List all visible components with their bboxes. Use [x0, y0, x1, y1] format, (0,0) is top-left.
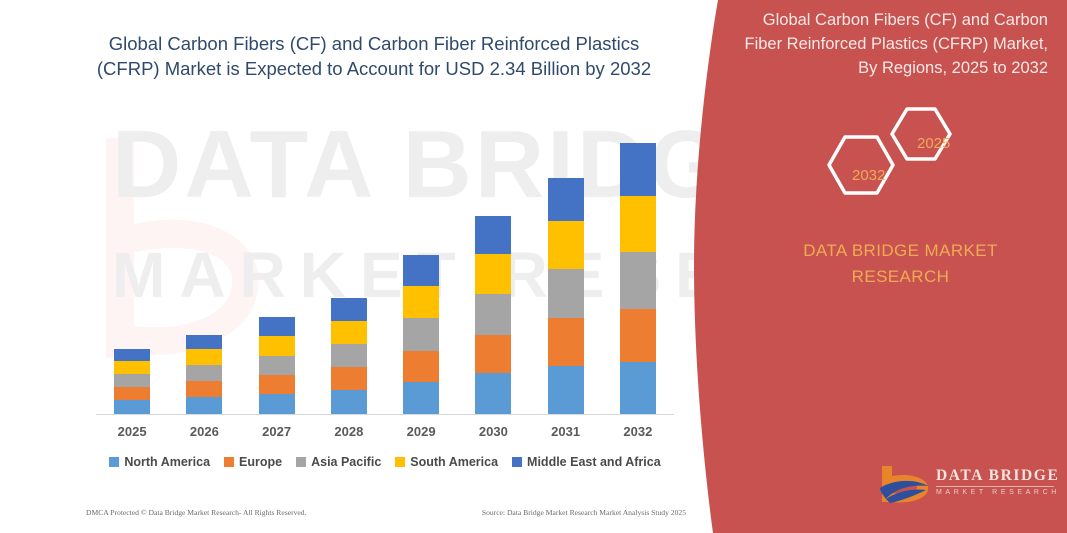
bar-segment	[331, 390, 367, 414]
bar-segment	[403, 351, 439, 382]
bar-segment	[403, 286, 439, 318]
legend-item[interactable]: Asia Pacific	[296, 455, 381, 469]
bar-column	[457, 120, 529, 414]
bar-segment	[620, 252, 656, 309]
bar-segment	[403, 382, 439, 414]
bar-segment	[186, 335, 222, 349]
bar-stack	[403, 255, 439, 414]
banner-title: Global Carbon Fibers (CF) and Carbon Fib…	[735, 8, 1060, 80]
bar-segment	[475, 294, 511, 335]
hex-label-2025: 2025	[917, 135, 950, 152]
bar-column	[168, 120, 240, 414]
legend-label: Europe	[239, 455, 282, 469]
bar-segment	[620, 196, 656, 252]
brand-name-line1: DATA BRIDGE MARKET	[746, 238, 1055, 264]
bar-segment	[403, 255, 439, 286]
legend-label: South America	[410, 455, 498, 469]
x-axis-label: 2031	[530, 424, 602, 439]
chart-plot-area	[96, 120, 674, 415]
bar-segment	[620, 309, 656, 362]
bar-stack	[114, 349, 150, 414]
x-axis-line	[96, 414, 674, 415]
legend-swatch	[224, 457, 234, 467]
bar-segment	[548, 178, 584, 221]
bar-segment	[548, 318, 584, 366]
bar-column	[602, 120, 674, 414]
bar-stack	[331, 298, 367, 414]
bar-segment	[620, 143, 656, 196]
bar-column	[530, 120, 602, 414]
bar-group	[96, 120, 674, 414]
chart-legend: North AmericaEuropeAsia PacificSouth Ame…	[96, 455, 674, 469]
bar-segment	[548, 269, 584, 318]
x-axis-label: 2027	[241, 424, 313, 439]
bar-segment	[331, 321, 367, 344]
bar-stack	[620, 143, 656, 414]
bar-segment	[475, 254, 511, 294]
bar-segment	[475, 373, 511, 414]
chart-title: Global Carbon Fibers (CF) and Carbon Fib…	[96, 31, 652, 81]
hex-label-2032: 2032	[852, 167, 885, 184]
legend-item[interactable]: Europe	[224, 455, 282, 469]
bar-segment	[114, 387, 150, 400]
data-bridge-logo-icon	[878, 462, 934, 506]
bar-segment	[331, 344, 367, 367]
bar-segment	[620, 362, 656, 414]
bar-segment	[186, 349, 222, 365]
bar-stack	[186, 335, 222, 414]
company-logo: DATA BRIDGE MARKET RESEARCH	[878, 462, 1058, 510]
bar-segment	[259, 336, 295, 356]
hexagon-outline-icon	[825, 105, 985, 205]
x-axis-labels: 20252026202720282029203020312032	[96, 424, 674, 439]
bar-column	[96, 120, 168, 414]
footer: DMCA Protected © Data Bridge Market Rese…	[86, 508, 686, 517]
legend-label: North America	[124, 455, 210, 469]
bar-segment	[331, 298, 367, 321]
chart-panel: Global Carbon Fibers (CF) and Carbon Fib…	[0, 0, 730, 533]
hexagon-badges: 2025 2032	[825, 105, 985, 205]
legend-item[interactable]: North America	[109, 455, 210, 469]
bar-segment	[114, 361, 150, 374]
bar-column	[313, 120, 385, 414]
bar-column	[385, 120, 457, 414]
bar-segment	[548, 366, 584, 414]
bar-segment	[331, 367, 367, 390]
bar-segment	[259, 356, 295, 375]
logo-tagline: MARKET RESEARCH	[936, 489, 1060, 496]
brand-name-line2: RESEARCH	[746, 264, 1055, 290]
bar-segment	[475, 216, 511, 254]
bar-stack	[475, 216, 511, 414]
bar-column	[241, 120, 313, 414]
legend-swatch	[512, 457, 522, 467]
red-banner-content: Global Carbon Fibers (CF) and Carbon Fib…	[730, 0, 1067, 533]
logo-name: DATA BRIDGE	[936, 467, 1059, 485]
bar-segment	[114, 349, 150, 361]
legend-item[interactable]: South America	[395, 455, 498, 469]
bar-stack	[259, 317, 295, 414]
footer-copyright: DMCA Protected © Data Bridge Market Rese…	[86, 508, 306, 517]
bar-segment	[186, 365, 222, 381]
hexagon-2032-shape	[829, 137, 893, 193]
x-axis-label: 2028	[313, 424, 385, 439]
bar-stack	[548, 178, 584, 414]
bar-segment	[403, 318, 439, 351]
bar-segment	[259, 394, 295, 414]
brand-name: DATA BRIDGE MARKET RESEARCH	[730, 238, 1067, 290]
bar-segment	[186, 397, 222, 414]
footer-source: Source: Data Bridge Market Research Mark…	[482, 508, 686, 517]
bar-segment	[186, 381, 222, 397]
x-axis-label: 2026	[168, 424, 240, 439]
legend-item[interactable]: Middle East and Africa	[512, 455, 661, 469]
bar-segment	[114, 374, 150, 387]
infographic-root: DATA BRIDGE MARKET RESEARCH Global Carbo…	[0, 0, 1067, 533]
bar-segment	[259, 317, 295, 336]
x-axis-label: 2030	[457, 424, 529, 439]
legend-swatch	[395, 457, 405, 467]
legend-swatch	[296, 457, 306, 467]
x-axis-label: 2025	[96, 424, 168, 439]
legend-label: Middle East and Africa	[527, 455, 661, 469]
legend-label: Asia Pacific	[311, 455, 381, 469]
logo-divider	[936, 486, 1054, 487]
bar-segment	[259, 375, 295, 394]
x-axis-label: 2032	[602, 424, 674, 439]
x-axis-label: 2029	[385, 424, 457, 439]
bar-segment	[475, 335, 511, 373]
legend-swatch	[109, 457, 119, 467]
bar-segment	[548, 221, 584, 269]
bar-segment	[114, 400, 150, 414]
